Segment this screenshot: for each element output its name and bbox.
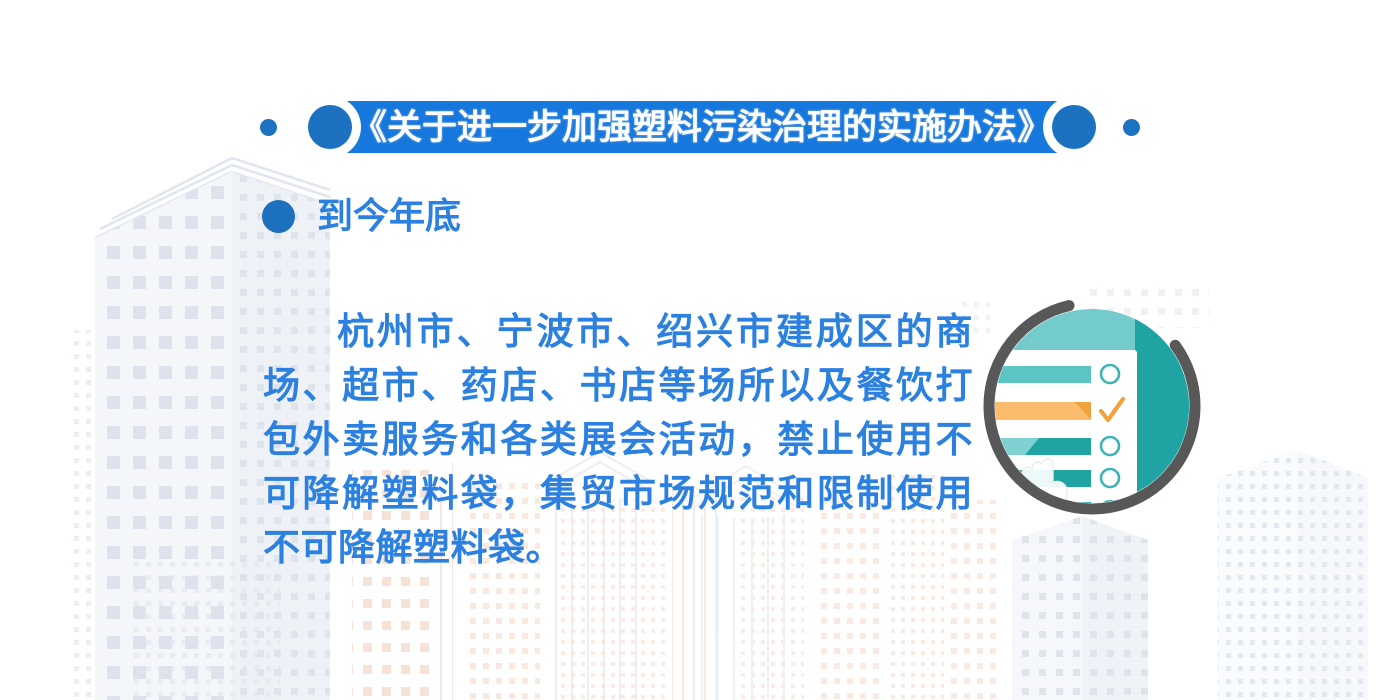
title-right-small-dot — [1123, 119, 1140, 136]
title-left-cap-dot — [299, 96, 361, 158]
page-title: 《关于进一步加强塑料污染治理的实施办法》 — [352, 110, 1052, 145]
subtitle-row: 到今年底 — [262, 198, 461, 234]
subtitle-bullet-icon — [262, 200, 295, 233]
checklist-illustration — [975, 292, 1210, 527]
subtitle-text: 到今年底 — [317, 198, 461, 234]
title-right-cap-dot — [1043, 96, 1105, 158]
title-banner-bar: 《关于进一步加强塑料污染治理的实施办法》 — [330, 101, 1074, 153]
row-bar-2 — [985, 402, 1091, 420]
row-bar-1 — [997, 366, 1091, 383]
body-paragraph: 杭州市、宁波市、绍兴市建成区的商场、超市、药店、书店等场所以及餐饮打包外卖服务和… — [263, 305, 973, 575]
slide-canvas: 《关于进一步加强塑料污染治理的实施办法》 到今年底 杭州市、宁波市、绍兴市建成区… — [0, 0, 1400, 700]
title-left-small-dot — [260, 119, 277, 136]
title-banner: 《关于进一步加强塑料污染治理的实施办法》 — [0, 96, 1400, 158]
